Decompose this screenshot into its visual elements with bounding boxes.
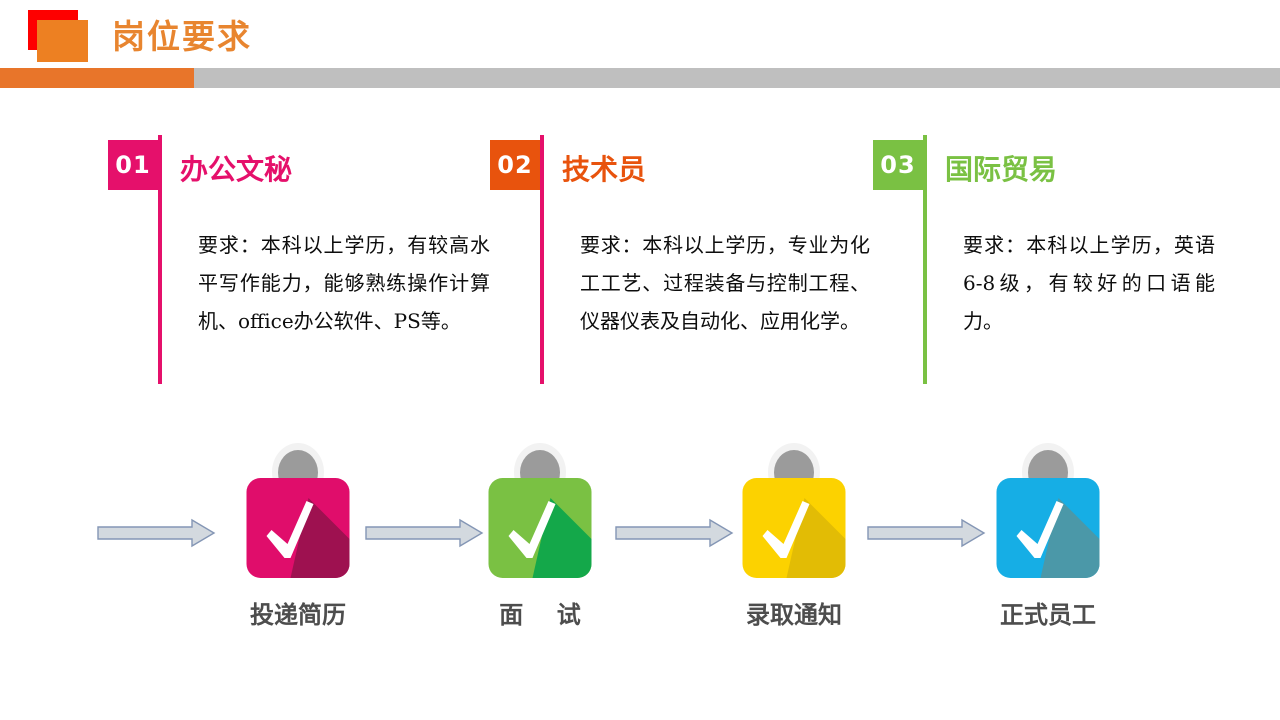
- flow-step-2: 面 试: [470, 440, 610, 585]
- process-flow: 投递简历 面 试: [0, 440, 1280, 650]
- flag-pole-1: [158, 135, 162, 384]
- clipboard-body-4: [997, 478, 1100, 578]
- header-rule-orange: [0, 68, 194, 88]
- clipboard-body-3: [743, 478, 846, 578]
- column-body-3: 要求：本科以上学历，英语6-8级，有较好的口语能力。: [963, 226, 1215, 340]
- flow-step-1: 投递简历: [228, 440, 368, 585]
- column-title-3: 国际贸易: [945, 148, 1057, 188]
- clipboard-check-icon-4: [978, 440, 1118, 585]
- clipboard-check-icon-1: [228, 440, 368, 585]
- flow-step-label-4: 正式员工: [978, 595, 1118, 630]
- flow-step-3: 录取通知: [724, 440, 864, 585]
- flow-step-label-1: 投递简历: [228, 595, 368, 630]
- header-rule: [0, 68, 1280, 88]
- flow-arrow-1: [364, 518, 484, 548]
- flag-pole-3: [923, 135, 927, 384]
- flag-badge-3: 03: [873, 140, 923, 190]
- clipboard-body-1: [247, 478, 350, 578]
- slide-root: 岗位要求 01 办公文秘 要求：本科以上学历，有较高水平写作能力，能够熟练操作计…: [0, 0, 1280, 720]
- clipboard-check-icon-3: [724, 440, 864, 585]
- column-title-2: 技术员: [562, 148, 646, 188]
- flow-arrow-2: [614, 518, 734, 548]
- flow-arrow-3: [866, 518, 986, 548]
- flow-step-label-2: 面 试: [470, 595, 610, 630]
- column-body-1: 要求：本科以上学历，有较高水平写作能力，能够熟练操作计算机、office办公软件…: [198, 226, 490, 340]
- flag-badge-2: 02: [490, 140, 540, 190]
- flag-pole-2: [540, 135, 544, 384]
- clipboard-body-2: [489, 478, 592, 578]
- page-title: 岗位要求: [112, 17, 252, 57]
- flow-step-label-3: 录取通知: [724, 595, 864, 630]
- column-title-1: 办公文秘: [180, 148, 292, 188]
- flow-step-4: 正式员工: [978, 440, 1118, 585]
- clipboard-check-icon-2: [470, 440, 610, 585]
- header-decor-square-orange: [37, 20, 88, 62]
- flow-arrow-0: [96, 518, 216, 548]
- flag-badge-1: 01: [108, 140, 158, 190]
- column-body-2: 要求：本科以上学历，专业为化工工艺、过程装备与控制工程、仪器仪表及自动化、应用化…: [580, 226, 870, 340]
